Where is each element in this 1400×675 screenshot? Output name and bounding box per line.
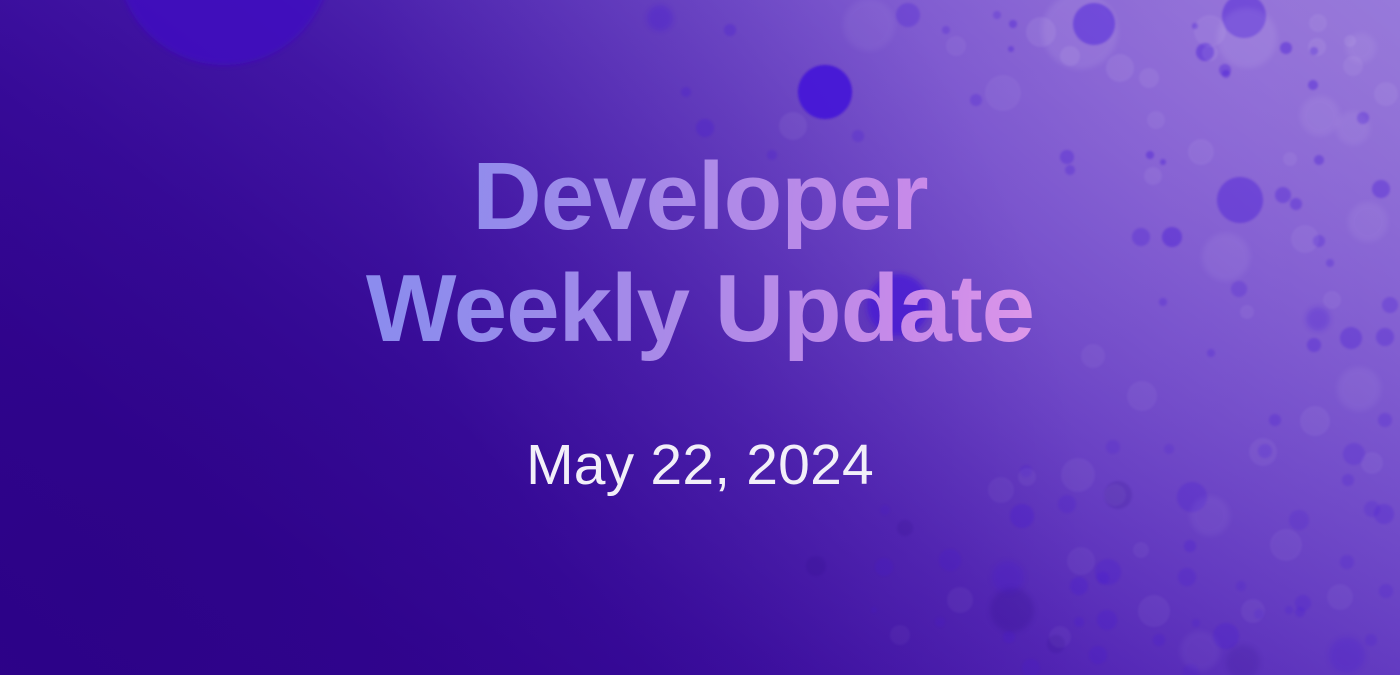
banner-content: Developer Weekly Update May 22, 2024 bbox=[0, 0, 1400, 675]
page-title-line-2: Weekly Update bbox=[366, 253, 1034, 364]
issue-date: May 22, 2024 bbox=[526, 432, 874, 498]
page-title-line-1: Developer bbox=[366, 141, 1034, 252]
page-title: Developer Weekly Update bbox=[354, 141, 1046, 374]
banner-hero: Developer Weekly Update May 22, 2024 bbox=[0, 0, 1400, 675]
